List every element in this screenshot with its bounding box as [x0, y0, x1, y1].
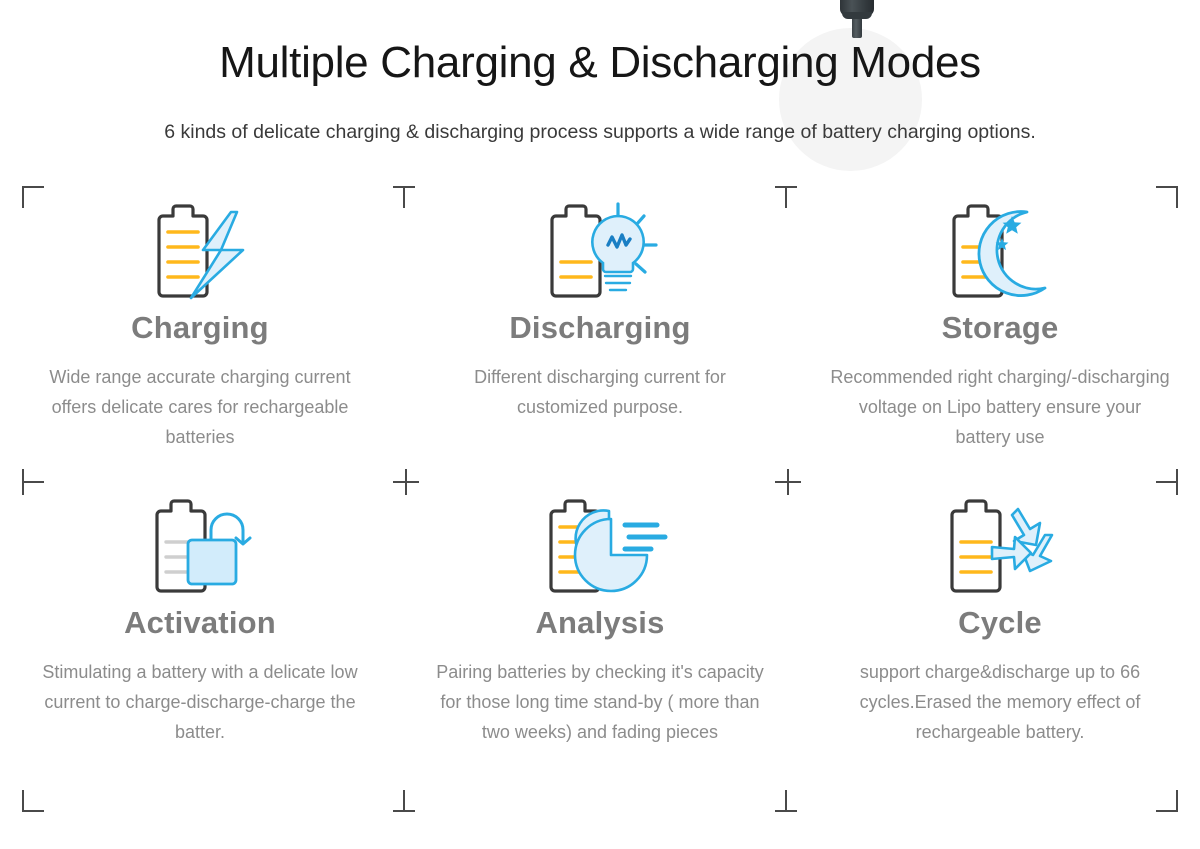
mode-card-activation: Activation Stimulating a battery with a …	[0, 491, 400, 786]
battery-recycle-icon	[930, 491, 1070, 603]
mode-title: Storage	[942, 310, 1059, 346]
mode-title: Analysis	[535, 605, 664, 641]
mode-title: Cycle	[958, 605, 1042, 641]
mode-card-discharging: Discharging Different discharging curren…	[400, 196, 800, 491]
battery-unlock-icon	[133, 491, 267, 603]
mode-card-cycle: Cycle support charge&discharge up to 66 …	[800, 491, 1200, 786]
mark-corner-bottom-right	[1156, 790, 1178, 812]
battery-lightbulb-icon	[530, 196, 670, 308]
mark-tee-bottom-1	[393, 790, 415, 812]
mode-description: Stimulating a battery with a delicate lo…	[35, 657, 365, 747]
mark-tee-bottom-2	[775, 790, 797, 812]
page-subtitle: 6 kinds of delicate charging & dischargi…	[0, 121, 1200, 144]
mode-card-analysis: Analysis Pairing batteries by checking i…	[400, 491, 800, 786]
battery-lightning-icon	[135, 196, 265, 308]
mode-description: Recommended right charging/-discharging …	[830, 362, 1170, 452]
page-title: Multiple Charging & Discharging Modes	[0, 38, 1200, 88]
mode-card-charging: Charging Wide range accurate charging cu…	[0, 196, 400, 491]
cable-cord	[852, 16, 862, 38]
mode-description: support charge&discharge up to 66 cycles…	[835, 657, 1165, 747]
battery-pie-chart-icon	[529, 491, 671, 603]
battery-moon-stars-icon	[932, 196, 1068, 308]
mode-description: Pairing batteries by checking it's capac…	[435, 657, 765, 747]
mode-title: Activation	[124, 605, 276, 641]
page-root: Multiple Charging & Discharging Modes 6 …	[0, 0, 1200, 849]
mark-corner-bottom-left	[22, 790, 44, 812]
modes-grid: Charging Wide range accurate charging cu…	[0, 196, 1200, 786]
cable-plug-head	[840, 0, 874, 16]
mode-description: Wide range accurate charging current off…	[35, 362, 365, 452]
mode-title: Discharging	[509, 310, 690, 346]
mode-card-storage: Storage Recommended right charging/-disc…	[800, 196, 1200, 491]
mode-title: Charging	[131, 310, 269, 346]
mode-description: Different discharging current for custom…	[435, 362, 765, 422]
power-cable-plug-icon	[832, 0, 882, 38]
